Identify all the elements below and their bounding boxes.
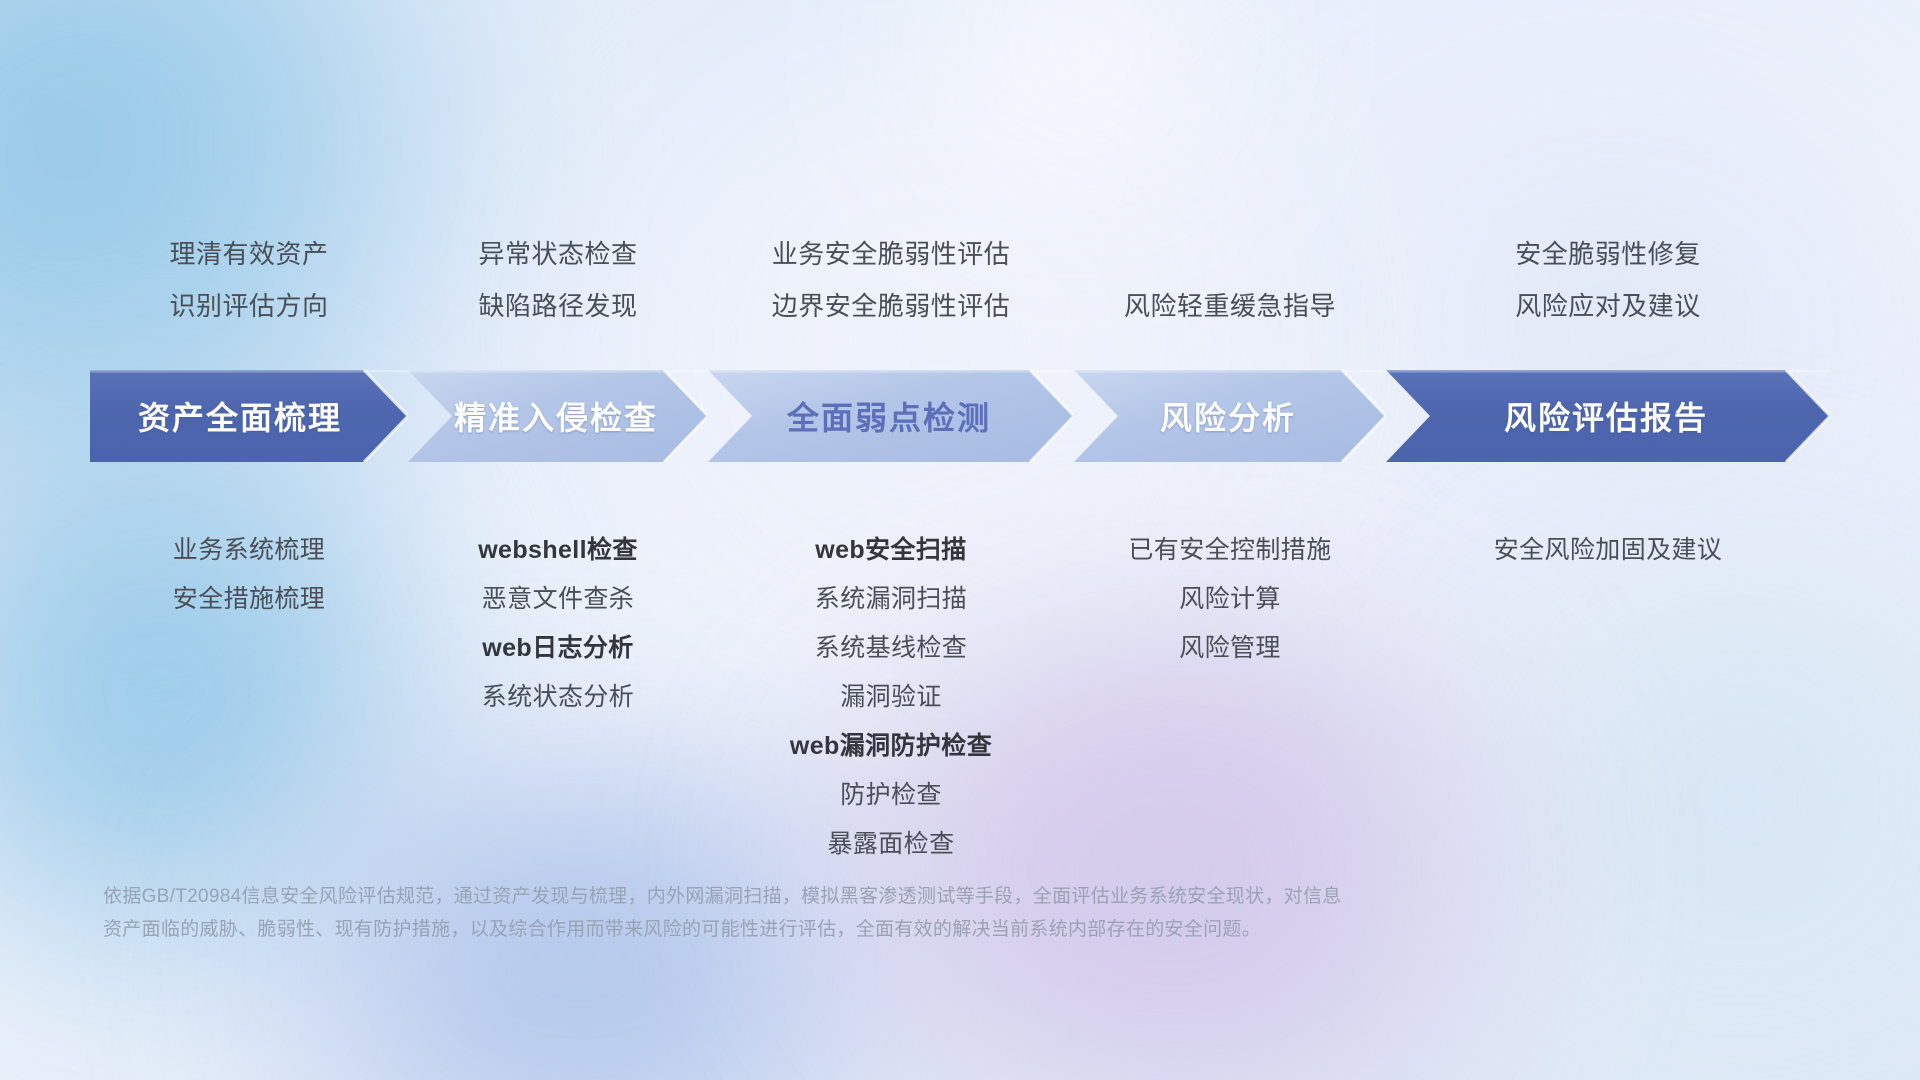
stage-label-risk-analysis: 风险分析 [1160,393,1296,439]
stage-label-asset-sorting: 资产全面梳理 [138,393,342,439]
bottom-label-item: 风险管理 [930,624,1530,673]
stage-segment-weakness-detection[interactable]: 全面弱点检测 [708,370,1074,462]
footer-line-1: 依据GB/T20984信息安全风险评估规范，通过资产发现与梳理，内外网漏洞扫描，… [103,880,1623,913]
stage-segment-intrusion-check[interactable]: 精准入侵检查 [408,370,708,462]
bottom-label-item: 风险计算 [930,575,1530,624]
stage-segment-risk-report[interactable]: 风险评估报告 [1386,370,1830,462]
top-label-item: 安全脆弱性修复 [1308,228,1908,280]
bottom-labels-risk-report: 安全风险加固及建议 [1308,526,1908,575]
bottom-label-item: 安全风险加固及建议 [1308,526,1908,575]
bottom-label-item: 暴露面检查 [591,820,1191,869]
stage-segment-asset-sorting[interactable]: 资产全面梳理 [90,370,408,462]
process-diagram: 理清有效资产识别评估方向异常状态检查缺陷路径发现业务安全脆弱性评估边界安全脆弱性… [0,0,1920,1080]
bottom-label-item: 漏洞验证 [591,673,1191,722]
top-labels-risk-report: 安全脆弱性修复风险应对及建议 [1308,228,1908,332]
stage-label-weakness-detection: 全面弱点检测 [787,393,991,439]
stage-segment-risk-analysis[interactable]: 风险分析 [1074,370,1386,462]
footer-description: 依据GB/T20984信息安全风险评估规范，通过资产发现与梳理，内外网漏洞扫描，… [103,880,1623,946]
stage-banner: 资产全面梳理 精准入侵检查 全面弱点检测 风险分析 风险评估报告 [90,370,1830,462]
top-label-item: 风险应对及建议 [1308,280,1908,332]
top-label-row: 理清有效资产识别评估方向异常状态检查缺陷路径发现业务安全脆弱性评估边界安全脆弱性… [0,228,1920,338]
top-label-item: 业务安全脆弱性评估 [591,228,1191,280]
stage-label-intrusion-check: 精准入侵检查 [454,393,658,439]
bottom-label-item: 防护检查 [591,771,1191,820]
bottom-label-item: web漏洞防护检查 [591,722,1191,771]
footer-line-2: 资产面临的威胁、脆弱性、现有防护措施，以及综合作用而带来风险的可能性进行评估，全… [103,913,1623,946]
stage-label-risk-report: 风险评估报告 [1504,393,1708,439]
